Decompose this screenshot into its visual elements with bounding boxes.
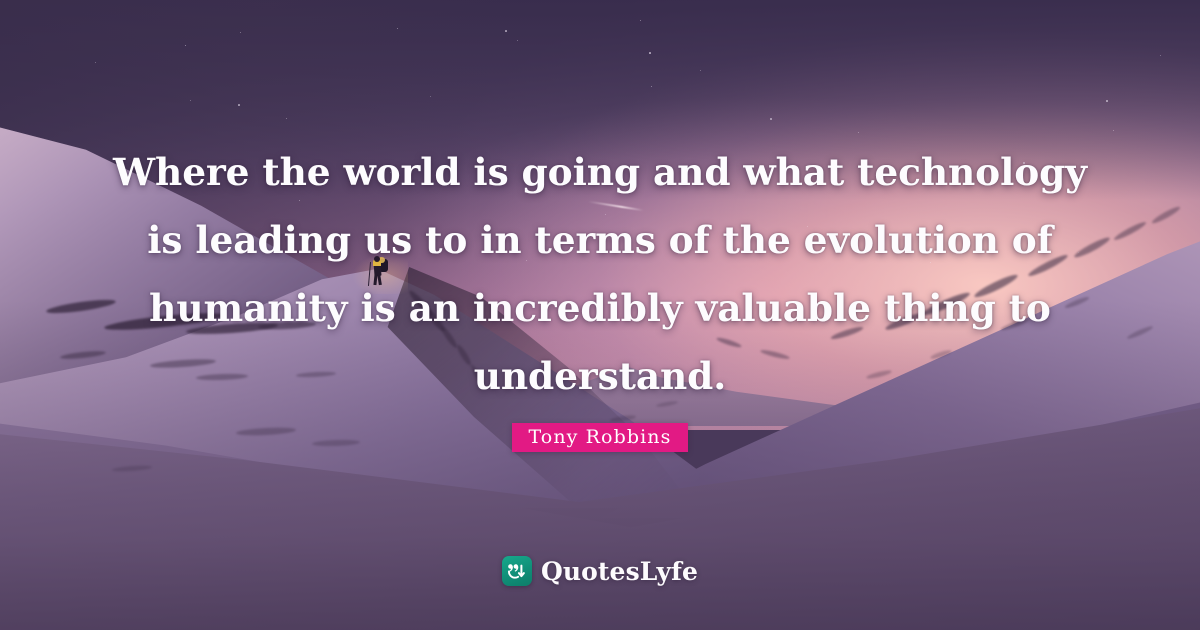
author-badge[interactable]: Tony Robbins — [512, 423, 689, 452]
brand-logo[interactable]: QuotesLyfe — [0, 556, 1200, 586]
quote-card: Where the world is going and what techno… — [0, 0, 1200, 630]
quote-text: Where the world is going and what techno… — [0, 138, 1200, 410]
author-badge-container: Tony Robbins — [0, 423, 1200, 452]
brand-name: QuotesLyfe — [541, 557, 698, 586]
quote-mark-icon — [502, 556, 532, 586]
